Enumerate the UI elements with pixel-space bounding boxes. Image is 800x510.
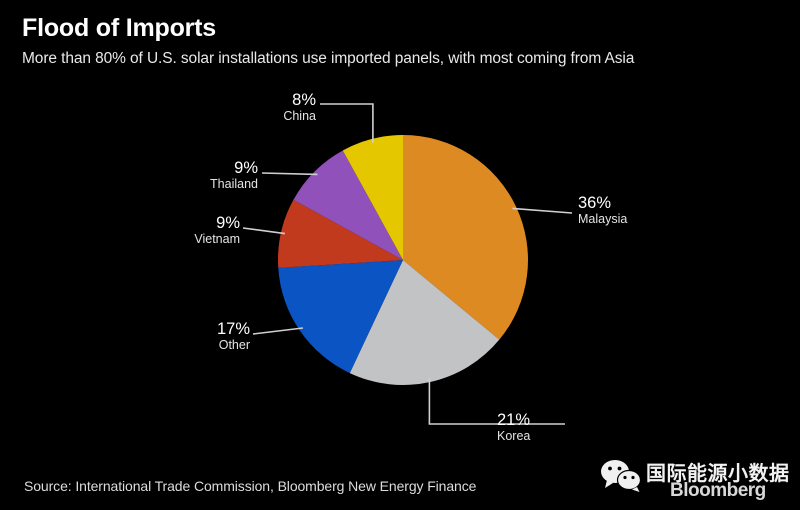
pie-slices [278, 135, 528, 385]
pie-chart: 36% Malaysia 21% Korea 17% Other 9% Viet… [0, 0, 800, 510]
pie-label-other-pct: 17% [140, 321, 250, 338]
wechat-icon [600, 458, 642, 492]
pie-label-vietnam-name: Vietnam [130, 232, 240, 246]
bloomberg-logo: Bloomberg [670, 480, 766, 502]
leader-other [253, 328, 303, 334]
pie-label-china-pct: 8% [206, 92, 316, 109]
pie-label-other: 17% Other [140, 321, 250, 352]
pie-label-malaysia: 36% Malaysia [578, 195, 627, 226]
pie-label-thailand-pct: 9% [148, 160, 258, 177]
source-note: Source: International Trade Commission, … [24, 478, 476, 494]
pie-label-other-name: Other [140, 338, 250, 352]
pie-label-korea-name: Korea [497, 429, 530, 443]
pie-label-thailand: 9% Thailand [148, 160, 258, 191]
pie-label-thailand-name: Thailand [148, 177, 258, 191]
pie-label-china: 8% China [206, 92, 316, 123]
leader-thailand [262, 173, 317, 174]
pie-label-korea: 21% Korea [497, 412, 530, 443]
leader-vietnam [243, 228, 285, 234]
pie-label-china-name: China [206, 109, 316, 123]
pie-chart-svg [0, 0, 800, 510]
leader-china [320, 104, 373, 143]
pie-label-vietnam: 9% Vietnam [130, 215, 240, 246]
pie-label-vietnam-pct: 9% [130, 215, 240, 232]
pie-label-malaysia-pct: 36% [578, 195, 627, 212]
leader-malaysia [512, 208, 572, 213]
pie-label-korea-pct: 21% [497, 412, 530, 429]
watermark: 国际能源小数据 Bloomberg [600, 452, 790, 504]
pie-label-malaysia-name: Malaysia [578, 212, 627, 226]
chart-canvas: Flood of Imports More than 80% of U.S. s… [0, 0, 800, 510]
